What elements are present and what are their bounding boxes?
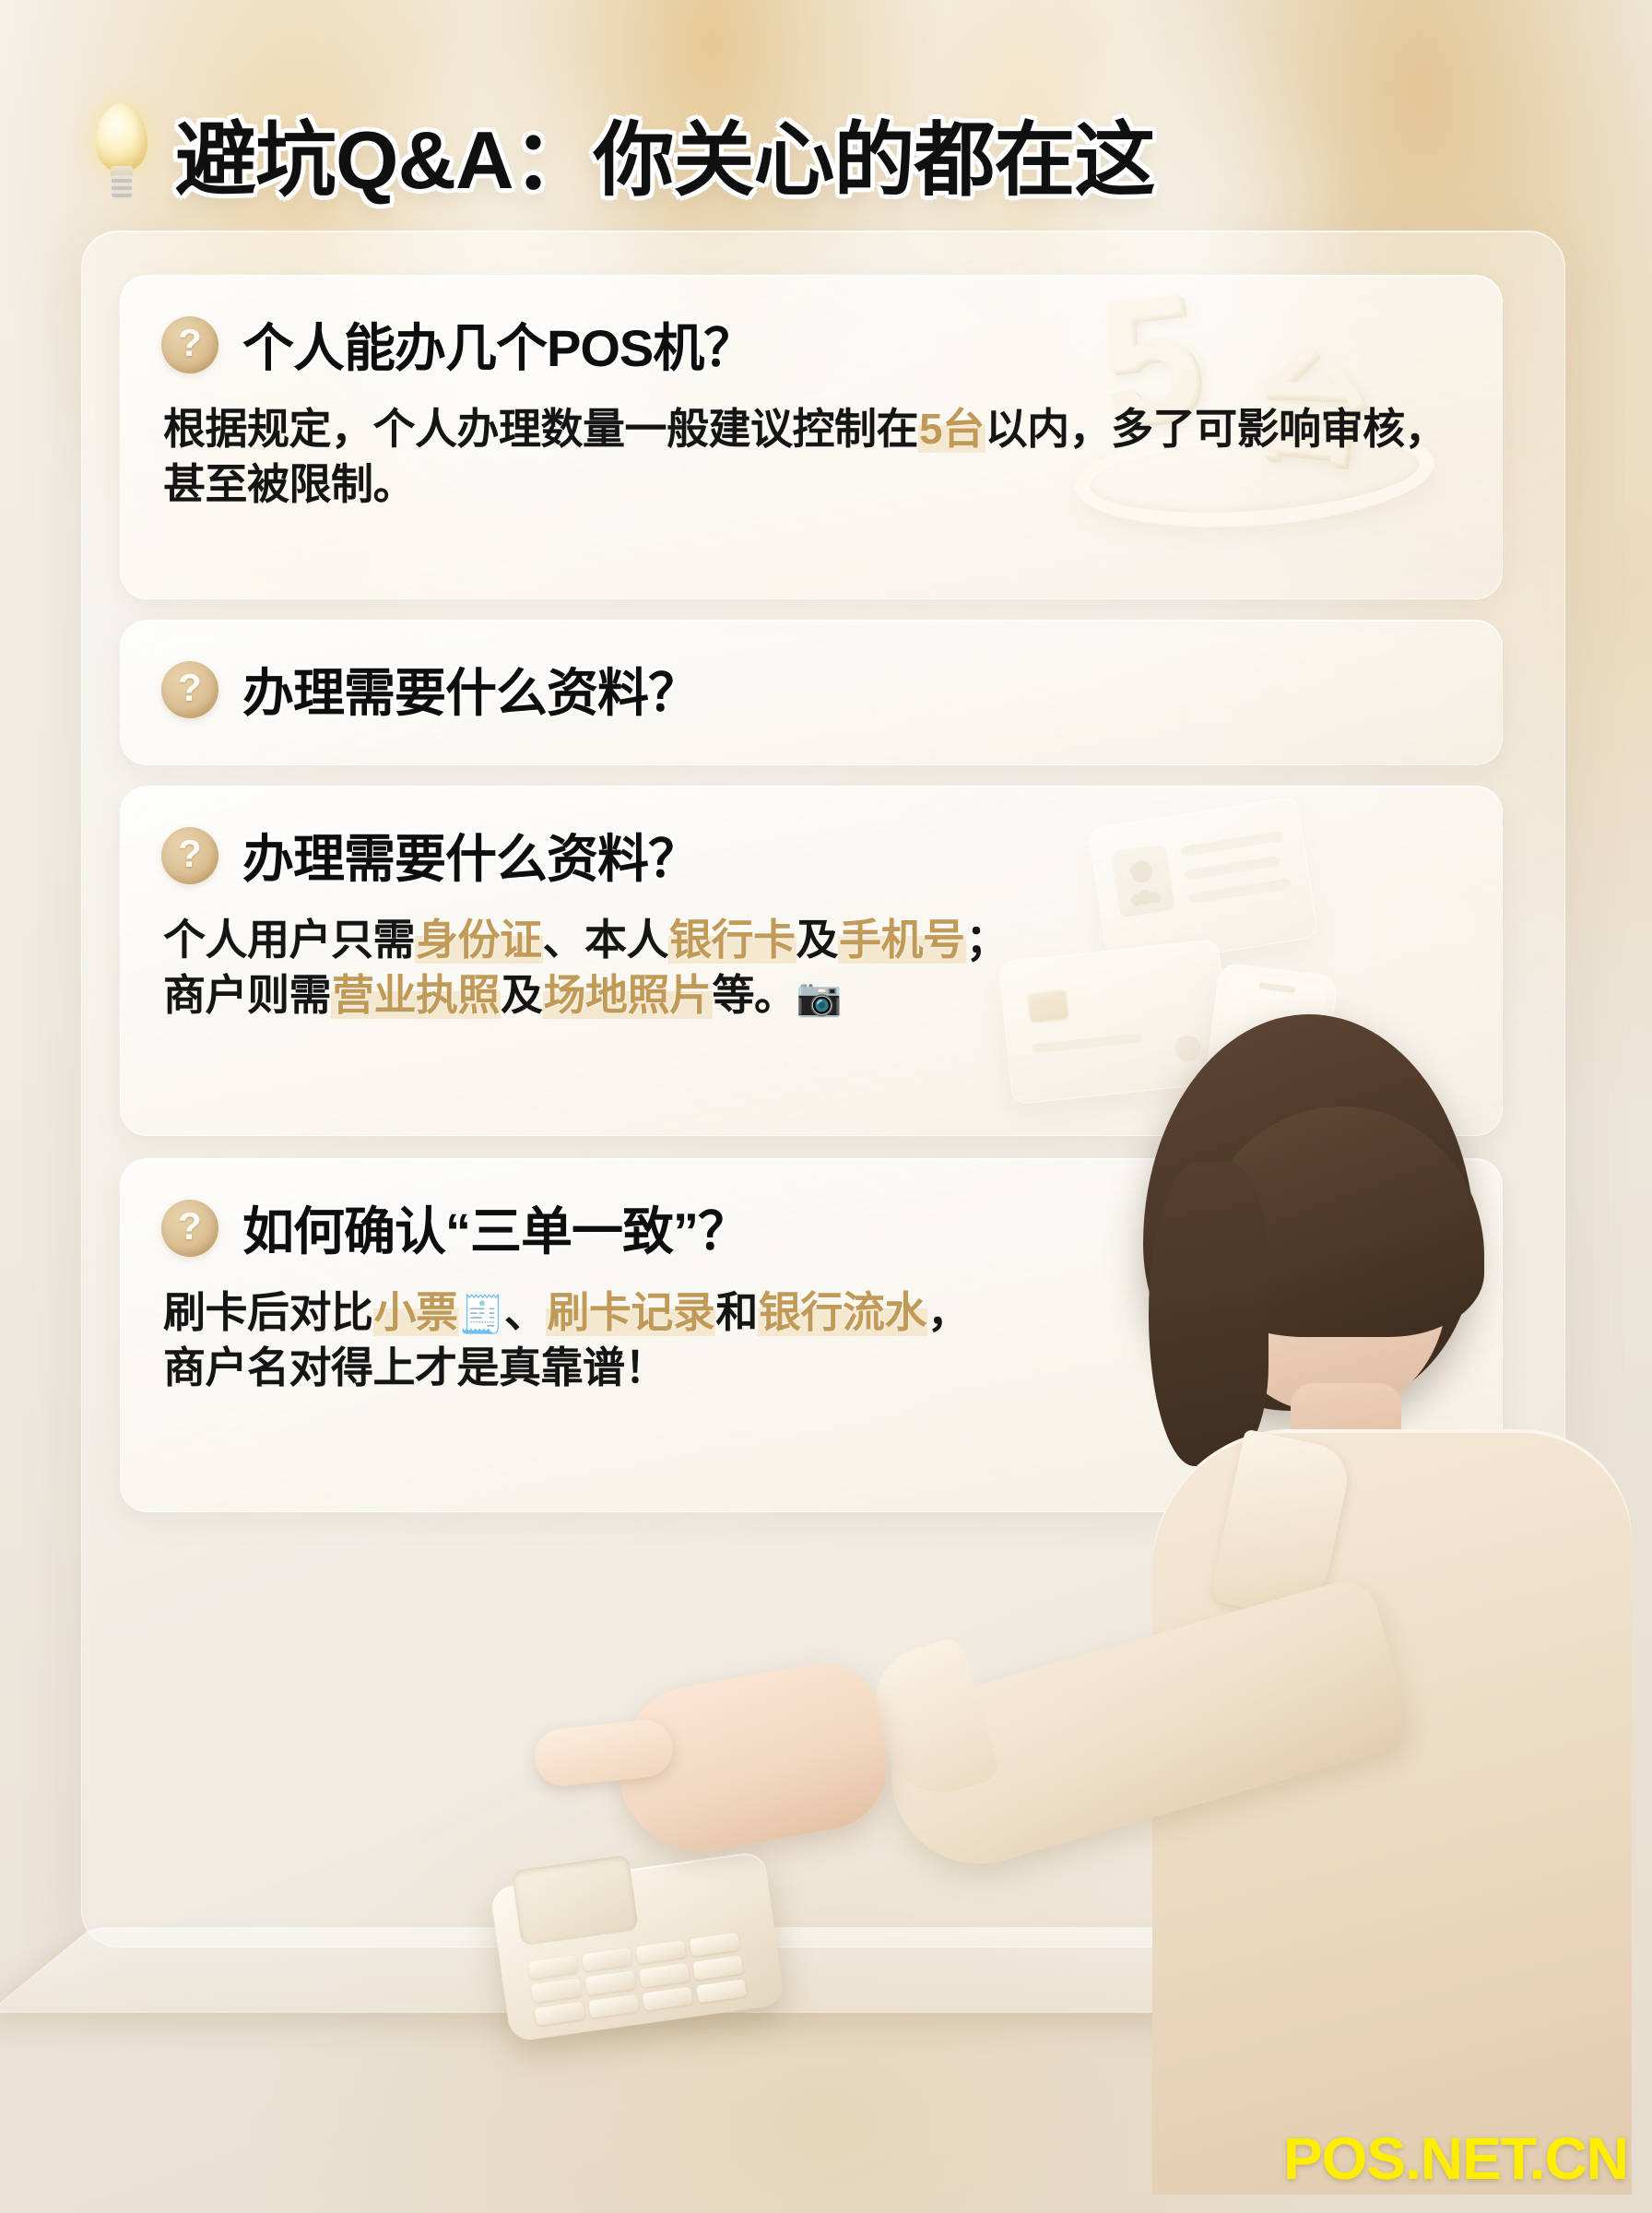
inline-emoji: 📷 — [796, 977, 842, 1018]
card-header: ? 办理需要什么资料？ — [121, 621, 1502, 727]
card-title: 如何确认“三单一致”？ — [237, 1190, 754, 1265]
body-text: 、本人 — [543, 916, 669, 964]
highlighted-text: 银行流水 — [758, 1288, 927, 1336]
hair-side — [1149, 1162, 1268, 1466]
pos-body — [490, 1851, 785, 2042]
body-text: 等。 — [713, 971, 796, 1019]
person-illustration — [922, 996, 1652, 2213]
body-text: 刷卡后对比 — [163, 1288, 373, 1336]
pos-key — [582, 1947, 632, 1972]
highlighted-text: 营业执照 — [331, 971, 501, 1019]
card-title: 办理需要什么资料？ — [237, 652, 704, 727]
watermark-logo: POS.NET.CN — [1283, 2124, 1628, 2193]
inline-emoji: 🧾 — [459, 1295, 504, 1335]
question-mark-icon: ? — [161, 661, 218, 718]
pos-key — [585, 1970, 636, 1995]
highlighted-text: 身份证 — [415, 916, 543, 964]
pos-key — [531, 1978, 582, 2003]
body-text: 、 — [504, 1288, 547, 1336]
highlighted-text: 5台 — [918, 405, 985, 453]
highlighted-text: 手机号 — [838, 916, 966, 964]
lightbulb-glass — [96, 103, 147, 172]
body-text: 般建议控制在 — [667, 405, 918, 453]
card-header: ? 个人能办几个POS机？ — [121, 276, 1502, 382]
card-body: 根据规定，个人办理数量一般建议控制在5台以内，多了可影响审核，甚至被限制。 — [121, 382, 1502, 513]
question-mark-icon: ? — [161, 316, 218, 373]
card-title: 个人能办几个POS机？ — [237, 307, 760, 382]
body-text: 以内，多了可影响审核， — [985, 405, 1447, 453]
body-text: 根据规定，个人办理数量一 — [163, 405, 667, 453]
pos-key — [639, 1963, 690, 1988]
body-text: 甚至被限制。 — [163, 460, 415, 508]
pos-key — [535, 2001, 585, 2026]
body-text: 和 — [715, 1288, 758, 1336]
body-text: 商户名对得上才是真靠谱！ — [163, 1343, 667, 1391]
question-mark-icon: ? — [161, 1200, 218, 1257]
pos-key — [588, 1994, 639, 2018]
highlighted-text: 小票 — [373, 1288, 459, 1336]
card-header: ? 办理需要什么资料？ — [121, 787, 1502, 893]
pos-key — [635, 1940, 686, 1965]
pos-screen — [512, 1854, 639, 1946]
pos-terminal-graphic — [485, 1810, 816, 2063]
page-title: 避坑Q&A：你关心的都在这 — [175, 95, 1155, 212]
pos-keypad — [528, 1933, 748, 2026]
body-text: 及 — [796, 916, 839, 964]
pos-key — [642, 1986, 692, 2011]
lightbulb-icon — [88, 101, 155, 205]
question-mark-icon: ? — [161, 827, 218, 884]
body-text: 商户则需 — [163, 971, 331, 1019]
body-text: 及 — [501, 971, 543, 1019]
body-text: 个人用户只需 — [163, 916, 415, 964]
card-pos-count[interactable]: ? 个人能办几个POS机？ 根据规定，个人办理数量一般建议控制在5台以内，多了可… — [120, 275, 1503, 599]
body-text: ； — [966, 916, 1009, 964]
highlighted-text: 场地照片 — [543, 971, 713, 1019]
pos-key — [690, 1933, 740, 1958]
highlighted-text: 刷卡记录 — [546, 1288, 715, 1336]
page-header: 避坑Q&A：你关心的都在这 — [0, 89, 1652, 218]
pos-key — [696, 1979, 747, 2004]
highlighted-text: 银行卡 — [668, 916, 796, 964]
lightbulb-base — [112, 175, 132, 199]
pos-key — [692, 1956, 743, 1981]
pos-key — [528, 1955, 579, 1980]
card-title: 办理需要什么资料？ — [237, 818, 704, 893]
card-materials-short[interactable]: ? 办理需要什么资料？ — [120, 620, 1503, 765]
